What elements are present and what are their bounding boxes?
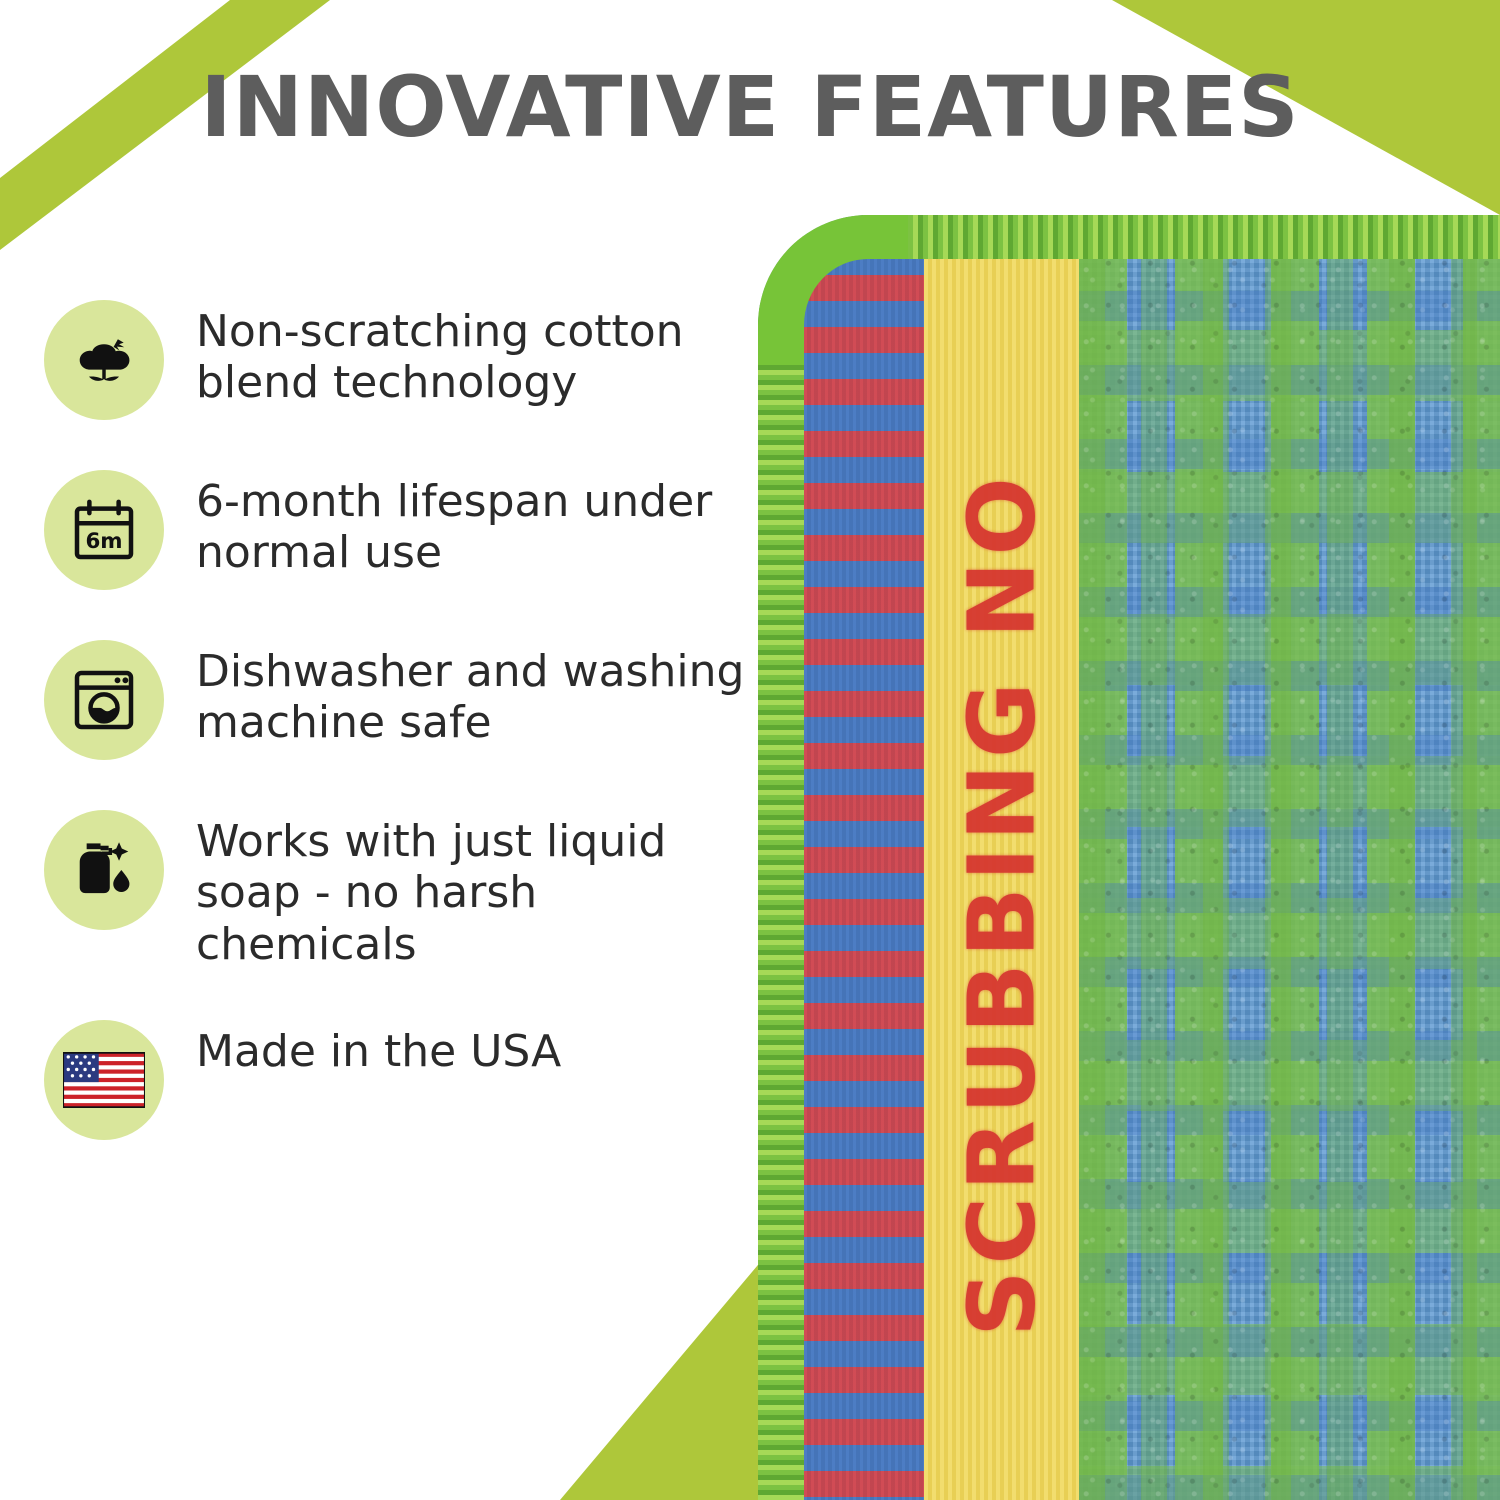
cloth-woven-text: SCRUBBING NO xyxy=(948,471,1055,1337)
feature-item: Works with just liquid soap - no harsh c… xyxy=(44,810,774,970)
feature-item: Non-scratching cotton blend technology xyxy=(44,300,774,420)
cloth-yellow-band: SCRUBBING NO xyxy=(924,259,1079,1500)
cloth-fiber-texture xyxy=(1079,259,1500,1500)
feature-badge xyxy=(44,640,164,760)
feature-list: Non-scratching cotton blend technology 6… xyxy=(44,300,774,1190)
feature-badge: 6m xyxy=(44,470,164,590)
product-image-container: SCRUBBING NO xyxy=(748,215,1500,1500)
feature-label: Non-scratching cotton blend technology xyxy=(196,300,756,409)
cotton-boll-icon xyxy=(67,323,141,397)
page-title: INNOVATIVE FEATURES xyxy=(0,58,1500,156)
washing-machine-icon xyxy=(68,664,140,736)
soap-dispenser-icon xyxy=(67,833,141,907)
feature-label: Works with just liquid soap - no harsh c… xyxy=(196,810,756,970)
feature-item: 6m 6-month lifespan under normal use xyxy=(44,470,774,590)
feature-badge xyxy=(44,810,164,930)
feature-item: Made in the USA xyxy=(44,1020,774,1140)
page-root: INNOVATIVE FEATURES N xyxy=(0,0,1500,1500)
feature-label: Dishwasher and washing machine safe xyxy=(196,640,756,749)
svg-text:6m: 6m xyxy=(85,529,122,554)
cloth-woven-panel xyxy=(1079,259,1500,1500)
feature-badge xyxy=(44,300,164,420)
calendar-6m-icon: 6m xyxy=(68,494,140,566)
feature-label: 6-month lifespan under normal use xyxy=(196,470,756,579)
feature-label: Made in the USA xyxy=(196,1020,561,1077)
feature-badge xyxy=(44,1020,164,1140)
usa-flag-icon xyxy=(63,1052,145,1108)
feature-item: Dishwasher and washing machine safe xyxy=(44,640,774,760)
cloth-speckled-band xyxy=(804,259,924,1500)
scrubbing-cloth-photo: SCRUBBING NO xyxy=(758,215,1500,1500)
